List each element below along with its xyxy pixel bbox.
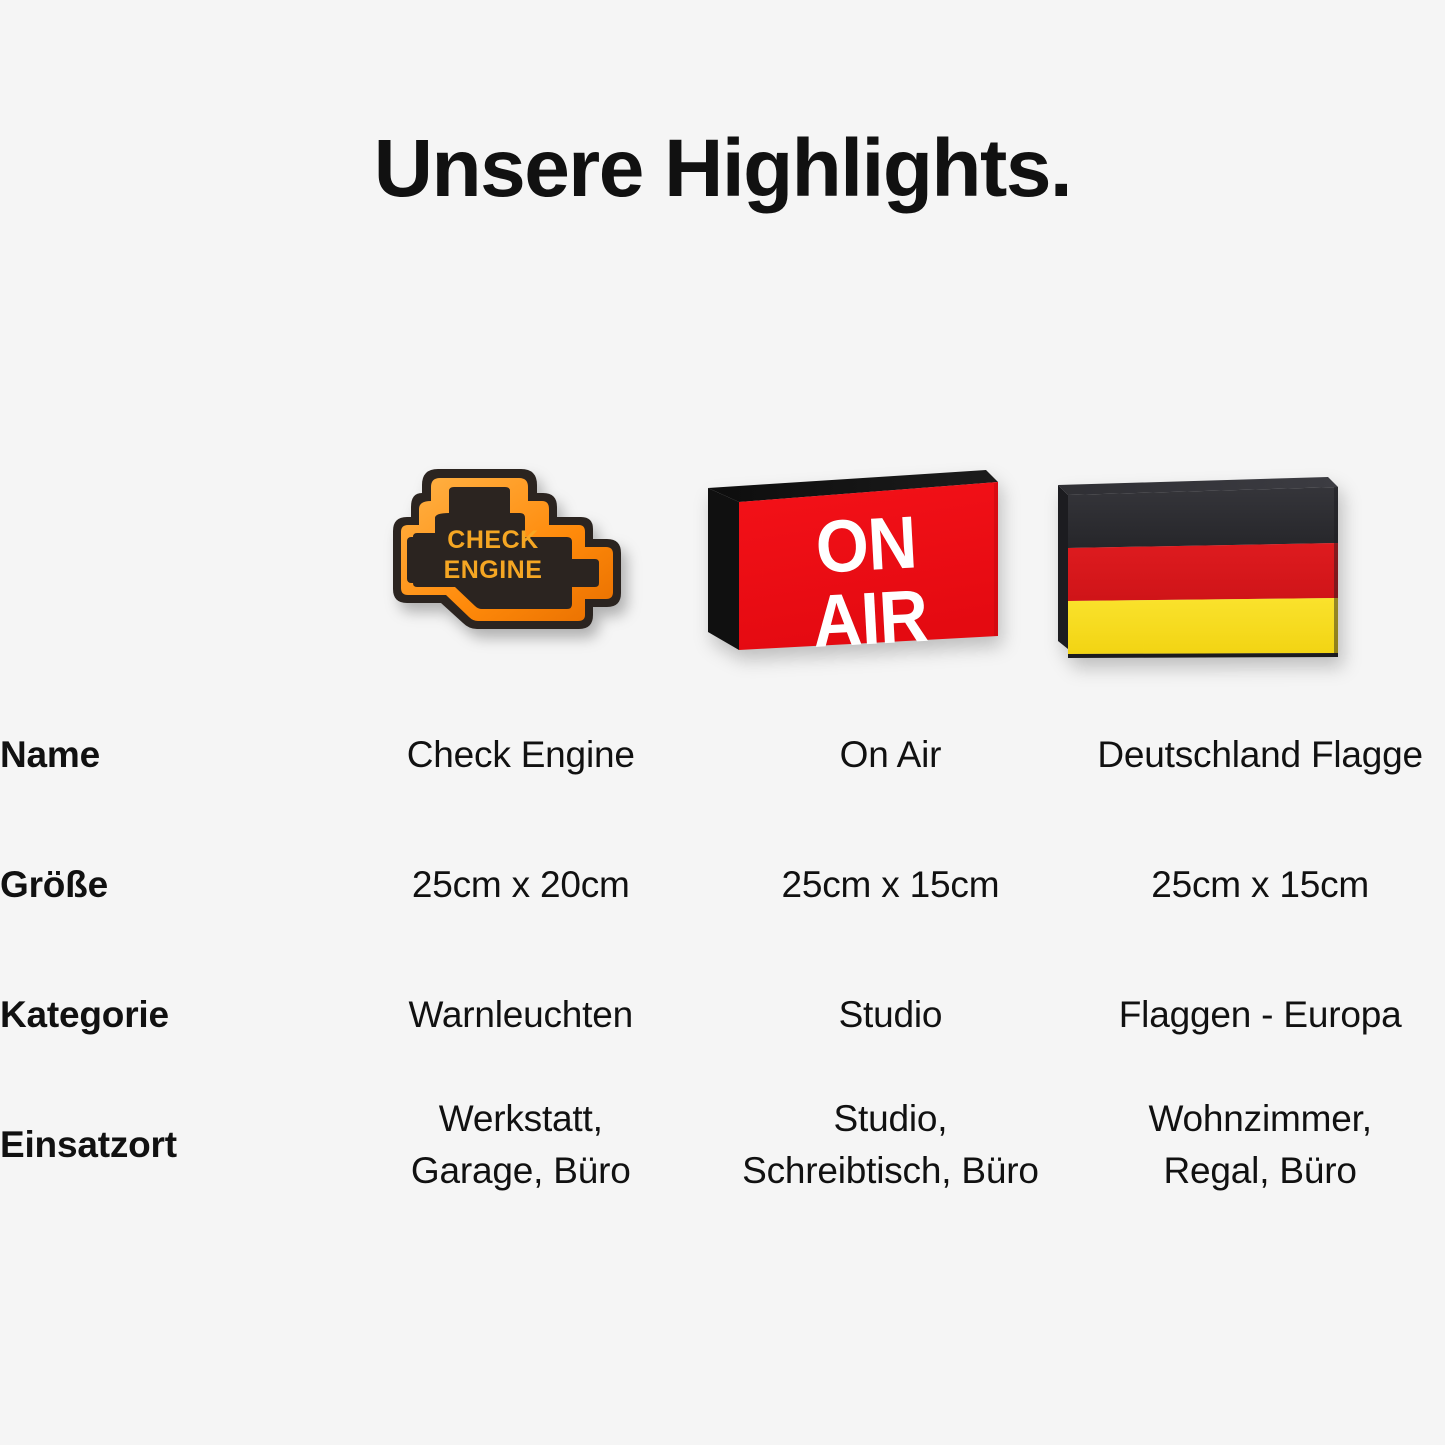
product-image-deutschland-flagge[interactable] [1018,405,1368,665]
cell-line-2: Garage, Büro [336,1145,706,1197]
cell-groesse-check-engine: 25cm x 20cm [336,820,706,950]
cell-line-1: Werkstatt, [336,1093,706,1145]
check-engine-icon: CHECK ENGINE [345,433,641,665]
german-flag-lightbox [1044,465,1342,665]
cell-einsatzort-deutschland-flagge: Wohnzimmer, Regal, Büro [1075,1080,1445,1210]
cell-kategorie-on-air: Studio [706,950,1076,1080]
cell-kategorie-deutschland-flagge: Flaggen - Europa [1075,950,1445,1080]
cell-line-1: Studio, [706,1093,1076,1145]
page-title: Unsere Highlights. [0,128,1445,210]
table-row: Größe 25cm x 20cm 25cm x 15cm 25cm x 15c… [0,820,1445,950]
row-label-groesse: Größe [0,820,336,950]
spec-table: Name Check Engine On Air Deutschland Fla… [0,690,1445,1210]
table-row: Kategorie Warnleuchten Studio Flaggen - … [0,950,1445,1080]
row-label-name: Name [0,690,336,820]
cell-name-deutschland-flagge: Deutschland Flagge [1075,690,1445,820]
cell-groesse-on-air: 25cm x 15cm [706,820,1076,950]
product-image-row: CHECK ENGINE [0,405,1445,665]
row-label-kategorie: Kategorie [0,950,336,1080]
cell-line-2: Regal, Büro [1075,1145,1445,1197]
cell-einsatzort-on-air: Studio, Schreibtisch, Büro [706,1080,1076,1210]
table-row: Name Check Engine On Air Deutschland Fla… [0,690,1445,820]
product-image-on-air[interactable]: ON AIR [668,405,1018,665]
cell-kategorie-check-engine: Warnleuchten [336,950,706,1080]
cell-line-2: Schreibtisch, Büro [706,1145,1076,1197]
product-image-check-engine[interactable]: CHECK ENGINE [318,405,668,665]
cell-groesse-deutschland-flagge: 25cm x 15cm [1075,820,1445,950]
cell-name-check-engine: Check Engine [336,690,706,820]
on-air-lightbox: ON AIR [683,460,1003,665]
table-row: Einsatzort Werkstatt, Garage, Büro Studi… [0,1080,1445,1210]
cell-einsatzort-check-engine: Werkstatt, Garage, Büro [336,1080,706,1210]
highlights-page: Unsere Highlights. [0,0,1445,1445]
cell-name-on-air: On Air [706,690,1076,820]
cell-line-1: Wohnzimmer, [1075,1093,1445,1145]
row-label-einsatzort: Einsatzort [0,1080,336,1210]
